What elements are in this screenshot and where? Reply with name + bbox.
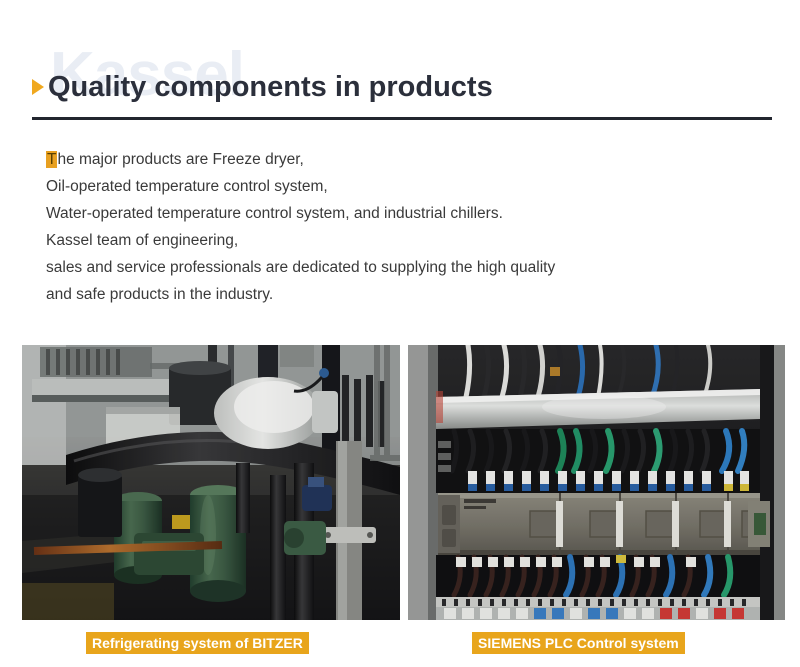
refrigeration-system-photo: [22, 345, 400, 620]
page-title-row: Quality components in products: [32, 72, 493, 102]
slide-canvas: Kassel Quality components in products Th…: [0, 0, 800, 667]
body-text-block: The major products are Freeze dryer, Oil…: [46, 146, 746, 308]
title-divider: [32, 117, 772, 120]
title-block: Kassel Quality components in products: [0, 46, 800, 124]
body-dropcap: T: [46, 151, 57, 168]
page-title: Quality components in products: [48, 72, 493, 102]
triangle-right-icon: [32, 79, 44, 95]
photo-row: [22, 345, 785, 620]
body-line-2: Oil-operated temperature control system,: [46, 173, 746, 200]
caption-plc: SIEMENS PLC Control system: [472, 632, 685, 654]
body-line-6: and safe products in the industry.: [46, 281, 746, 308]
body-line-1: The major products are Freeze dryer,: [46, 146, 746, 173]
body-line-3: Water-operated temperature control syste…: [46, 200, 746, 227]
caption-refrigeration: Refrigerating system of BITZER: [86, 632, 309, 654]
plc-control-panel-photo: [408, 345, 785, 620]
refrigeration-system-image: [22, 345, 400, 620]
body-line-1-text: he major products are Freeze dryer,: [57, 151, 303, 168]
body-line-5: sales and service professionals are dedi…: [46, 254, 746, 281]
plc-control-panel-image: [408, 345, 785, 620]
body-line-4: Kassel team of engineering,: [46, 227, 746, 254]
